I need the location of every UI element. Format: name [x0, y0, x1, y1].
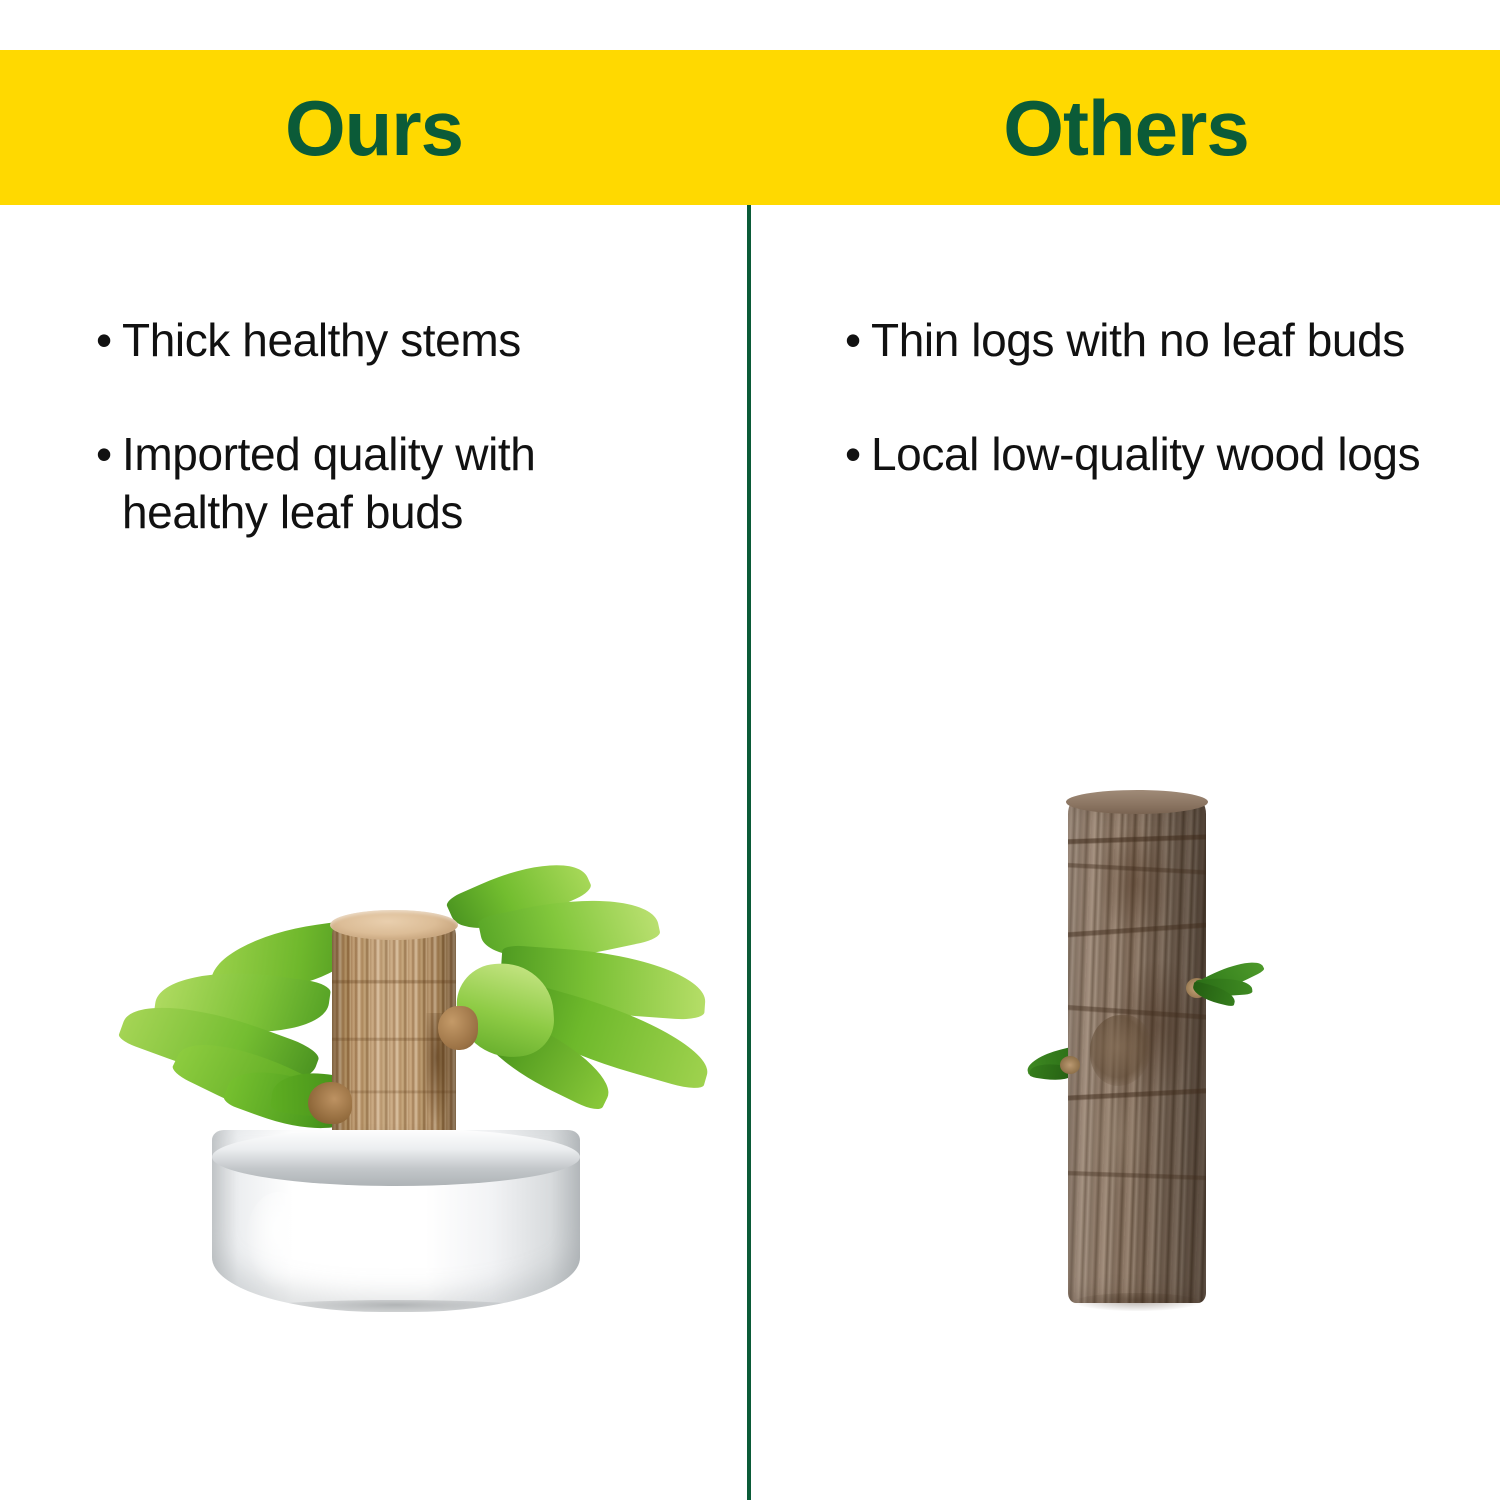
list-item: • Thick healthy stems: [96, 312, 676, 370]
shoot-knob-right: [438, 1006, 478, 1050]
bamboo-stump: [332, 922, 456, 1162]
bullet-list-ours: • Thick healthy stems • Imported quality…: [96, 312, 676, 598]
bullet-marker-icon: •: [96, 312, 122, 370]
list-item: • Local low-quality wood logs: [845, 426, 1425, 484]
bowl-rim: [212, 1130, 580, 1186]
bullet-text: Thin logs with no leaf buds: [871, 312, 1425, 370]
product-image-others: [1000, 780, 1360, 1325]
column-header-ours: Ours: [0, 50, 748, 205]
log-cut-top: [1066, 790, 1208, 814]
stump-cut-top: [330, 910, 458, 940]
bullet-text: Imported quality with healthy leaf buds: [122, 426, 676, 542]
column-header-others: Others: [752, 50, 1500, 205]
bullet-text: Thick healthy stems: [122, 312, 676, 370]
bullet-text: Local low-quality wood logs: [871, 426, 1425, 484]
list-item: • Thin logs with no leaf buds: [845, 312, 1425, 370]
bark-cracks: [1068, 798, 1206, 1303]
product-image-ours: [60, 830, 720, 1330]
bullet-list-others: • Thin logs with no leaf buds • Local lo…: [845, 312, 1425, 540]
bullet-marker-icon: •: [96, 426, 122, 484]
bowl-highlight: [246, 1192, 310, 1288]
log-base-shadow: [1074, 1293, 1200, 1311]
sprout-base-left: [1060, 1056, 1080, 1074]
bullet-marker-icon: •: [845, 312, 871, 370]
bowl-base-shadow: [256, 1300, 536, 1312]
bullet-marker-icon: •: [845, 426, 871, 484]
column-divider: [747, 205, 751, 1500]
comparison-infographic: Ours Others • Thick healthy stems • Impo…: [0, 0, 1500, 1500]
shoot-knob-left: [308, 1082, 352, 1124]
ceramic-bowl: [212, 1130, 580, 1312]
list-item: • Imported quality with healthy leaf bud…: [96, 426, 676, 542]
wood-log: [1068, 798, 1206, 1303]
